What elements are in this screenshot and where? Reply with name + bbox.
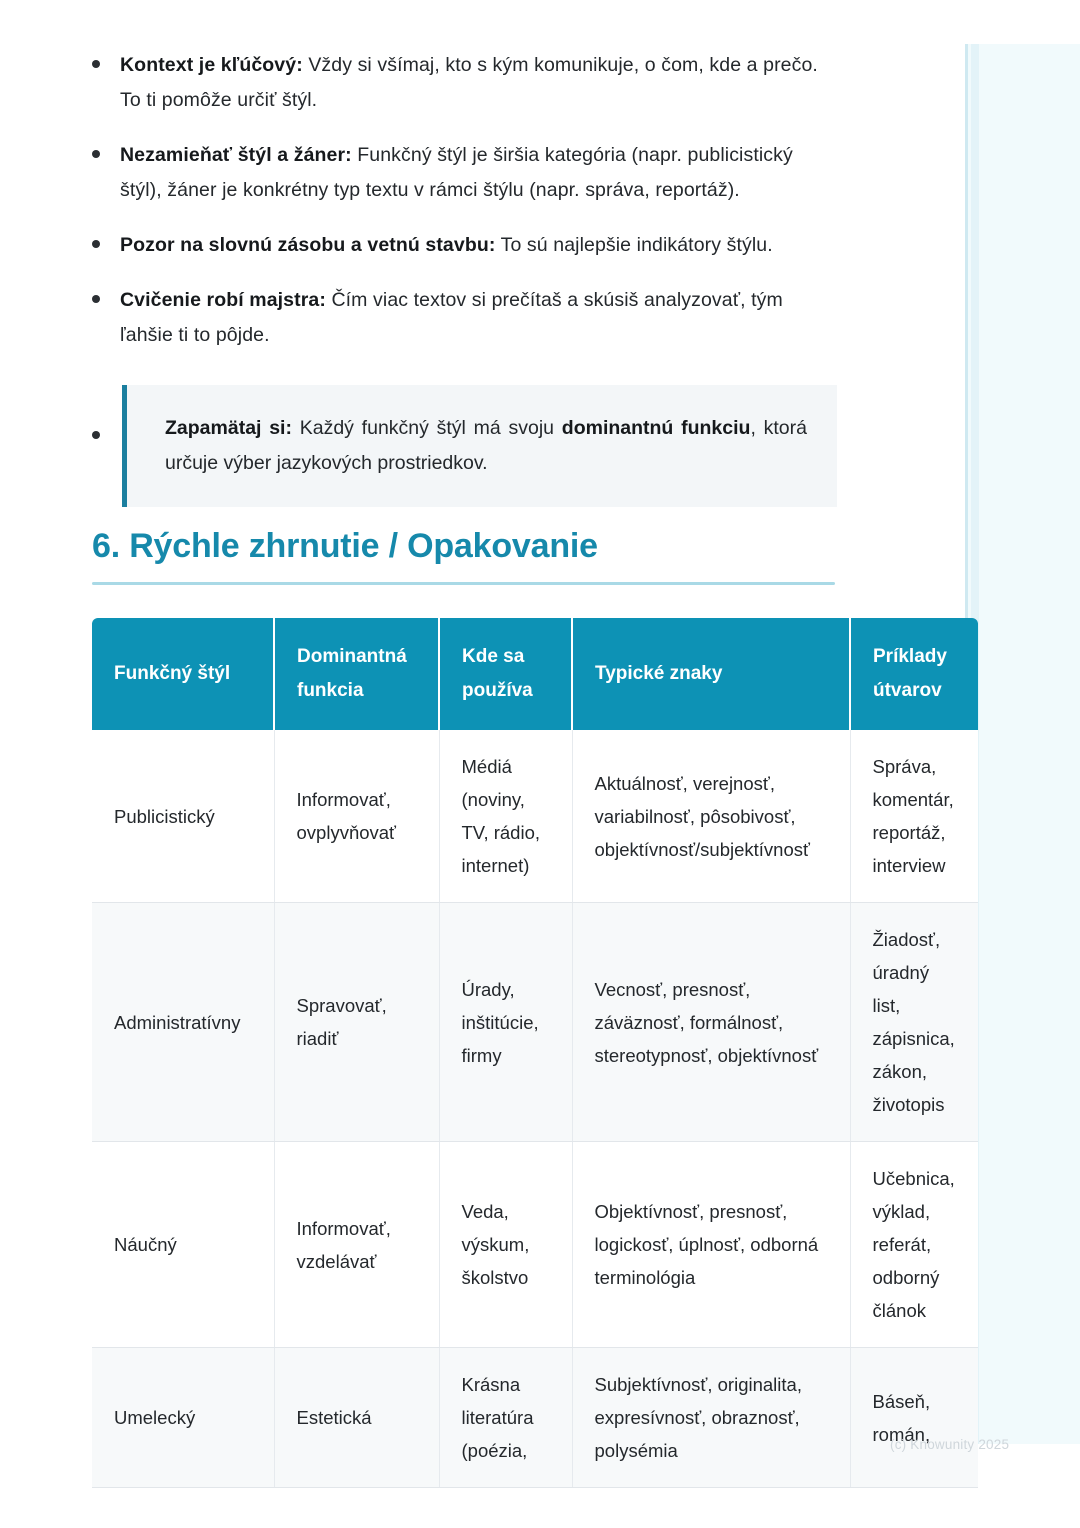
cell-style: Umelecký: [92, 1348, 274, 1488]
list-item: Nezamieňať štýl a žáner: Funkčný štýl je…: [92, 138, 837, 208]
cell-examples: Žiadosť, úradný list, zápisnica, zákon, …: [850, 903, 978, 1142]
bullet-lead: Pozor na slovnú zásobu a vetnú stavbu:: [120, 234, 495, 256]
table-row: Náučný Informovať, vzdelávať Veda, výsku…: [92, 1142, 978, 1348]
summary-table-wrapper: Funkčný štýl Dominantná funkcia Kde sa p…: [92, 618, 978, 1488]
cell-where: Krásna literatúra (poézia,: [439, 1348, 572, 1488]
table-row: Administratívny Spravovať, riadiť Úrady,…: [92, 903, 978, 1142]
bullet-text: Pozor na slovnú zásobu a vetnú stavbu: T…: [120, 228, 837, 263]
bullet-dot-icon: [92, 295, 100, 303]
table-row: Umelecký Estetická Krásna literatúra (po…: [92, 1348, 978, 1488]
cell-examples: Správa, komentár, reportáž, interview: [850, 730, 978, 903]
cell-style: Náučný: [92, 1142, 274, 1348]
column-header-function: Dominantná funkcia: [274, 618, 439, 730]
column-header-examples: Príklady útvarov: [850, 618, 978, 730]
cell-where: Úrady, inštitúcie, firmy: [439, 903, 572, 1142]
bullet-lead: Kontext je kľúčový:: [120, 54, 303, 76]
cell-style: Publicistický: [92, 730, 274, 903]
bullet-dot-icon: [92, 150, 100, 158]
cell-where: Veda, výskum, školstvo: [439, 1142, 572, 1348]
cell-features: Aktuálnosť, verejnosť, variabilnosť, pôs…: [572, 730, 850, 903]
list-item: Kontext je kľúčový: Vždy si všímaj, kto …: [92, 48, 837, 118]
table-row: Publicistický Informovať, ovplyvňovať Mé…: [92, 730, 978, 903]
column-header-style: Funkčný štýl: [92, 618, 274, 730]
copyright-watermark: (c) Knowunity 2025: [890, 1437, 1009, 1452]
cell-function: Informovať, vzdelávať: [274, 1142, 439, 1348]
cell-examples: Učebnica, výklad, referát, odborný článo…: [850, 1142, 978, 1348]
cell-function: Spravovať, riadiť: [274, 903, 439, 1142]
list-item: Cvičenie robí majstra: Čím viac textov s…: [92, 283, 837, 353]
remember-callout-row: Zapamätaj si: Každý funkčný štýl má svoj…: [92, 385, 837, 507]
list-item: Pozor na slovnú zásobu a vetnú stavbu: T…: [92, 228, 837, 263]
column-header-features: Typické znaky: [572, 618, 850, 730]
summary-table: Funkčný štýl Dominantná funkcia Kde sa p…: [92, 618, 978, 1488]
bullet-text: Cvičenie robí majstra: Čím viac textov s…: [120, 283, 837, 353]
callout-lead: Zapamätaj si:: [165, 417, 292, 439]
table-body: Publicistický Informovať, ovplyvňovať Mé…: [92, 730, 978, 1488]
cell-function: Estetická: [274, 1348, 439, 1488]
column-header-where: Kde sa používa: [439, 618, 572, 730]
table-header-row: Funkčný štýl Dominantná funkcia Kde sa p…: [92, 618, 978, 730]
table-header: Funkčný štýl Dominantná funkcia Kde sa p…: [92, 618, 978, 730]
cell-features: Subjektívnosť, originalita, expresívnosť…: [572, 1348, 850, 1488]
bullet-lead: Cvičenie robí majstra:: [120, 289, 326, 311]
cell-features: Objektívnosť, presnosť, logickosť, úplno…: [572, 1142, 850, 1348]
bullet-text: Nezamieňať štýl a žáner: Funkčný štýl je…: [120, 138, 837, 208]
bullet-dot-icon: [92, 240, 100, 248]
bullet-dot-icon: [92, 60, 100, 68]
bullet-text: Kontext je kľúčový: Vždy si všímaj, kto …: [120, 48, 837, 118]
bullet-dot-icon: [92, 431, 100, 439]
remember-callout: Zapamätaj si: Každý funkčný štýl má svoj…: [122, 385, 837, 507]
section-heading-block: 6. Rýchle zhrnutie / Opakovanie: [92, 524, 837, 585]
page-edge-decoration: [965, 44, 1080, 1444]
page-title: 6. Rýchle zhrnutie / Opakovanie: [92, 524, 837, 568]
tips-bullet-list: Kontext je kľúčový: Vždy si všímaj, kto …: [92, 48, 837, 507]
callout-text: Zapamätaj si: Každý funkčný štýl má svoj…: [165, 411, 807, 481]
document-content: Kontext je kľúčový: Vždy si všímaj, kto …: [0, 0, 965, 1528]
cell-where: Médiá (noviny, TV, rádio, internet): [439, 730, 572, 903]
callout-mid: Každý funkčný štýl má svoju: [292, 417, 562, 439]
cell-features: Vecnosť, presnosť, záväznosť, formálnosť…: [572, 903, 850, 1142]
bullet-rest: To sú najlepšie indikátory štýlu.: [495, 234, 772, 256]
cell-examples: Báseň, román,: [850, 1348, 978, 1488]
cell-function: Informovať, ovplyvňovať: [274, 730, 439, 903]
callout-emphasis: dominantnú funkciu: [562, 417, 751, 439]
cell-style: Administratívny: [92, 903, 274, 1142]
heading-underline-rule: [92, 582, 835, 585]
bullet-lead: Nezamieňať štýl a žáner:: [120, 144, 352, 166]
